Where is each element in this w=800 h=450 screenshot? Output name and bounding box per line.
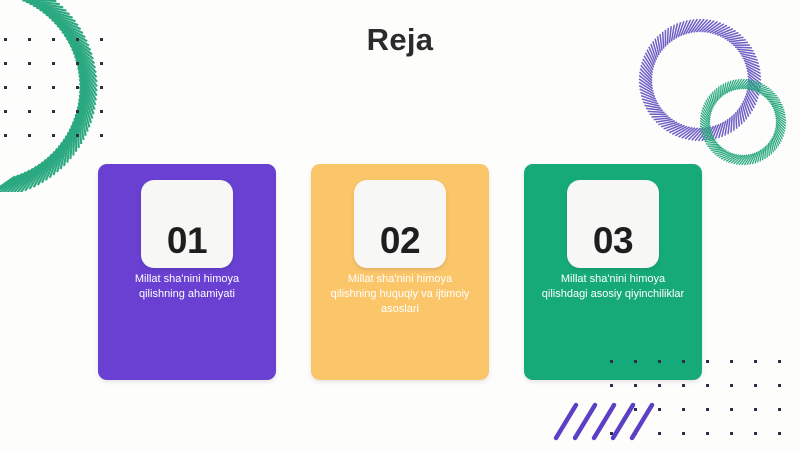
card-02[interactable]: 02 Millat sha'nini himoya qilishning huq… — [311, 164, 489, 380]
number-label: 03 — [593, 222, 633, 268]
diagonal-slashes-decoration — [548, 398, 658, 446]
card-caption-02: Millat sha'nini himoya qilishning huquqi… — [324, 272, 476, 317]
card-01[interactable]: 01 Millat sha'nini himoya qilishning aha… — [98, 164, 276, 380]
card-03[interactable]: 03 Millat sha'nini himoya qilishdagi aso… — [524, 164, 702, 380]
number-badge-01: 01 — [141, 180, 233, 268]
number-badge-03: 03 — [567, 180, 659, 268]
page-title: Reja — [0, 22, 800, 58]
number-label: 02 — [380, 222, 420, 268]
cards-row: 01 Millat sha'nini himoya qilishning aha… — [0, 164, 800, 382]
card-caption-03: Millat sha'nini himoya qilishdagi asosiy… — [537, 272, 689, 302]
card-caption-01: Millat sha'nini himoya qilishning ahamiy… — [111, 272, 263, 302]
slide-canvas: Reja 01 Millat sha'nini himoya qilishnin… — [0, 0, 800, 450]
number-label: 01 — [167, 222, 207, 268]
number-badge-02: 02 — [354, 180, 446, 268]
